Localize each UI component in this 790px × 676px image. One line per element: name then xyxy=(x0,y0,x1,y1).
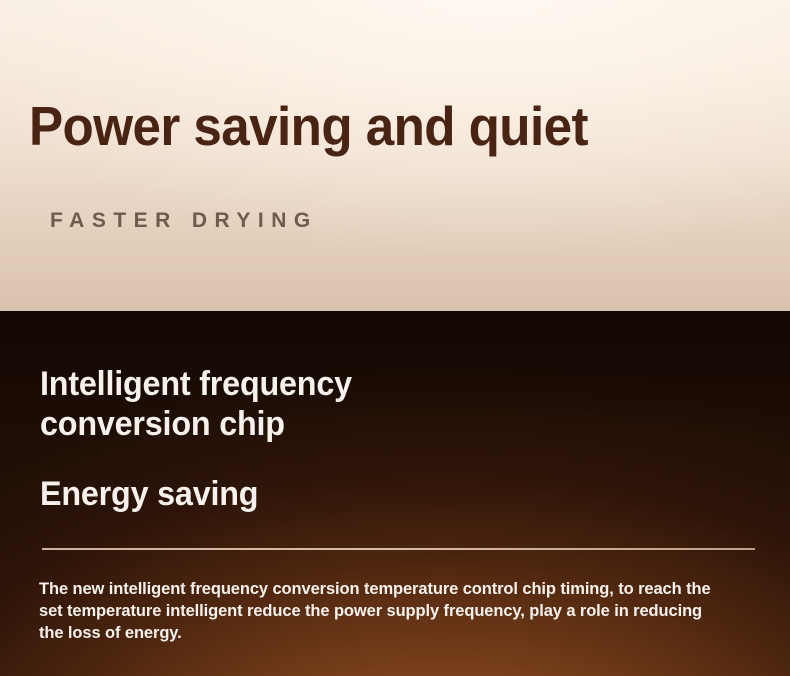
hero-subhead: FASTERDRYING xyxy=(50,206,318,236)
feature-title-line-2: conversion chip xyxy=(40,405,285,443)
hero-subhead-word-2: DRYING xyxy=(192,209,318,232)
hero-headline: Power saving and quiet xyxy=(29,95,588,157)
feature-body-copy: The new intelligent frequency conversion… xyxy=(39,578,718,644)
feature-title: Intelligent frequency conversion chip xyxy=(40,364,449,444)
feature-dark-panel: Intelligent frequency conversion chip En… xyxy=(0,311,790,676)
product-feature-banner: Power saving and quiet FASTERDRYING Inte… xyxy=(0,0,790,676)
hero-subhead-word-1: FASTER xyxy=(50,209,178,232)
feature-dark-panel-content: Intelligent frequency conversion chip En… xyxy=(0,311,790,676)
section-divider xyxy=(42,548,755,550)
feature-subtitle: Energy saving xyxy=(40,474,258,514)
hero-light-panel: Power saving and quiet FASTERDRYING xyxy=(0,0,790,311)
feature-title-line-1: Intelligent frequency xyxy=(40,365,352,403)
